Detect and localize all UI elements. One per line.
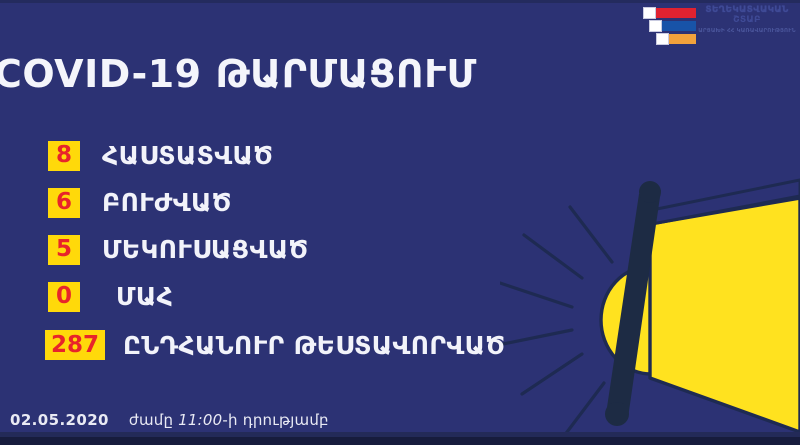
stat-value-badge: 287 xyxy=(45,330,105,360)
government-logo: ՏԵՂԵԿԱՏՎԱԿԱՆ ՇՏԱԲ ԱՐՑԱԽԻ ՀՀ ԿԱՌԱՎԱՐՈՒԹՅՈ… xyxy=(636,5,796,45)
footer-time-prefix: ժամը xyxy=(129,411,173,429)
covid-update-infographic: ՏԵՂԵԿԱՏՎԱԿԱՆ ՇՏԱԲ ԱՐՑԱԽԻ ՀՀ ԿԱՌԱՎԱՐՈՒԹՅՈ… xyxy=(0,0,800,445)
footer-time-line: ժամը 11:00-ի դրությամբ xyxy=(129,411,329,429)
stat-row-deaths: 0 ՄԱՀ xyxy=(0,273,560,320)
page-title: COVID-19 ԹԱՐՄԱՑՈՒՄ xyxy=(0,52,477,96)
stat-value-badge: 6 xyxy=(48,188,80,218)
statistics-list: 8 ՀԱՍՏԱՏՎԱԾ 6 ԲՈՒԺՎԱԾ 5 ՄԵԿՈՒՍԱՑՎԱԾ 0 ՄԱ… xyxy=(0,132,560,370)
top-letterbox-strip xyxy=(0,0,800,3)
stat-value-badge: 8 xyxy=(48,141,80,171)
logo-bar-blue xyxy=(649,21,696,31)
footer-time-value: 11:00 xyxy=(178,411,222,429)
stat-row-isolated: 5 ՄԵԿՈՒՍԱՑՎԱԾ xyxy=(0,226,560,273)
stat-row-recovered: 6 ԲՈՒԺՎԱԾ xyxy=(0,179,560,226)
stat-label: ՀԱՍՏԱՏՎԱԾ xyxy=(102,141,273,170)
stat-label: ՄԵԿՈՒՍԱՑՎԱԾ xyxy=(102,235,309,264)
footer-time-suffix: -ի դրությամբ xyxy=(222,411,328,429)
logo-square-orange xyxy=(656,33,669,45)
footer-date: 02.05.2020 xyxy=(10,411,109,429)
megaphone-cone xyxy=(650,180,800,432)
stat-value-badge: 0 xyxy=(48,282,80,312)
logo-bar-orange xyxy=(656,34,696,44)
logo-line-1: ՏԵՂԵԿԱՏՎԱԿԱՆ xyxy=(698,6,796,15)
stat-value-badge: 5 xyxy=(48,235,80,265)
stat-row-confirmed: 8 ՀԱՍՏԱՏՎԱԾ xyxy=(0,132,560,179)
stat-label: ԲՈՒԺՎԱԾ xyxy=(102,188,232,217)
bottom-letterbox-strip xyxy=(0,437,800,445)
stat-row-total-tested: 287 ԸՆԴՀԱՆՈՒՐ ԹԵՍՏԱՎՈՐՎԱԾ xyxy=(0,320,560,370)
logo-line-2: ՇՏԱԲ xyxy=(698,16,796,25)
logo-square-blue xyxy=(649,20,662,32)
logo-text-block: ՏԵՂԵԿԱՏՎԱԿԱՆ ՇՏԱԲ ԱՐՑԱԽԻ ՀՀ ԿԱՌԱՎԱՐՈՒԹՅՈ… xyxy=(698,6,796,35)
stat-label: ՄԱՀ xyxy=(116,282,173,311)
logo-square-red xyxy=(643,7,656,19)
logo-flag-bars xyxy=(636,5,696,45)
logo-bar-red xyxy=(643,8,696,18)
stat-label: ԸՆԴՀԱՆՈՒՐ ԹԵՍՏԱՎՈՐՎԱԾ xyxy=(123,331,506,360)
logo-line-3: ԱՐՑԱԽԻ ՀՀ ԿԱՌԱՎԱՐՈՒԹՅՈՒՆ xyxy=(698,29,796,35)
footer-timestamp: 02.05.2020 ժամը 11:00-ի դրությամբ xyxy=(10,411,329,429)
